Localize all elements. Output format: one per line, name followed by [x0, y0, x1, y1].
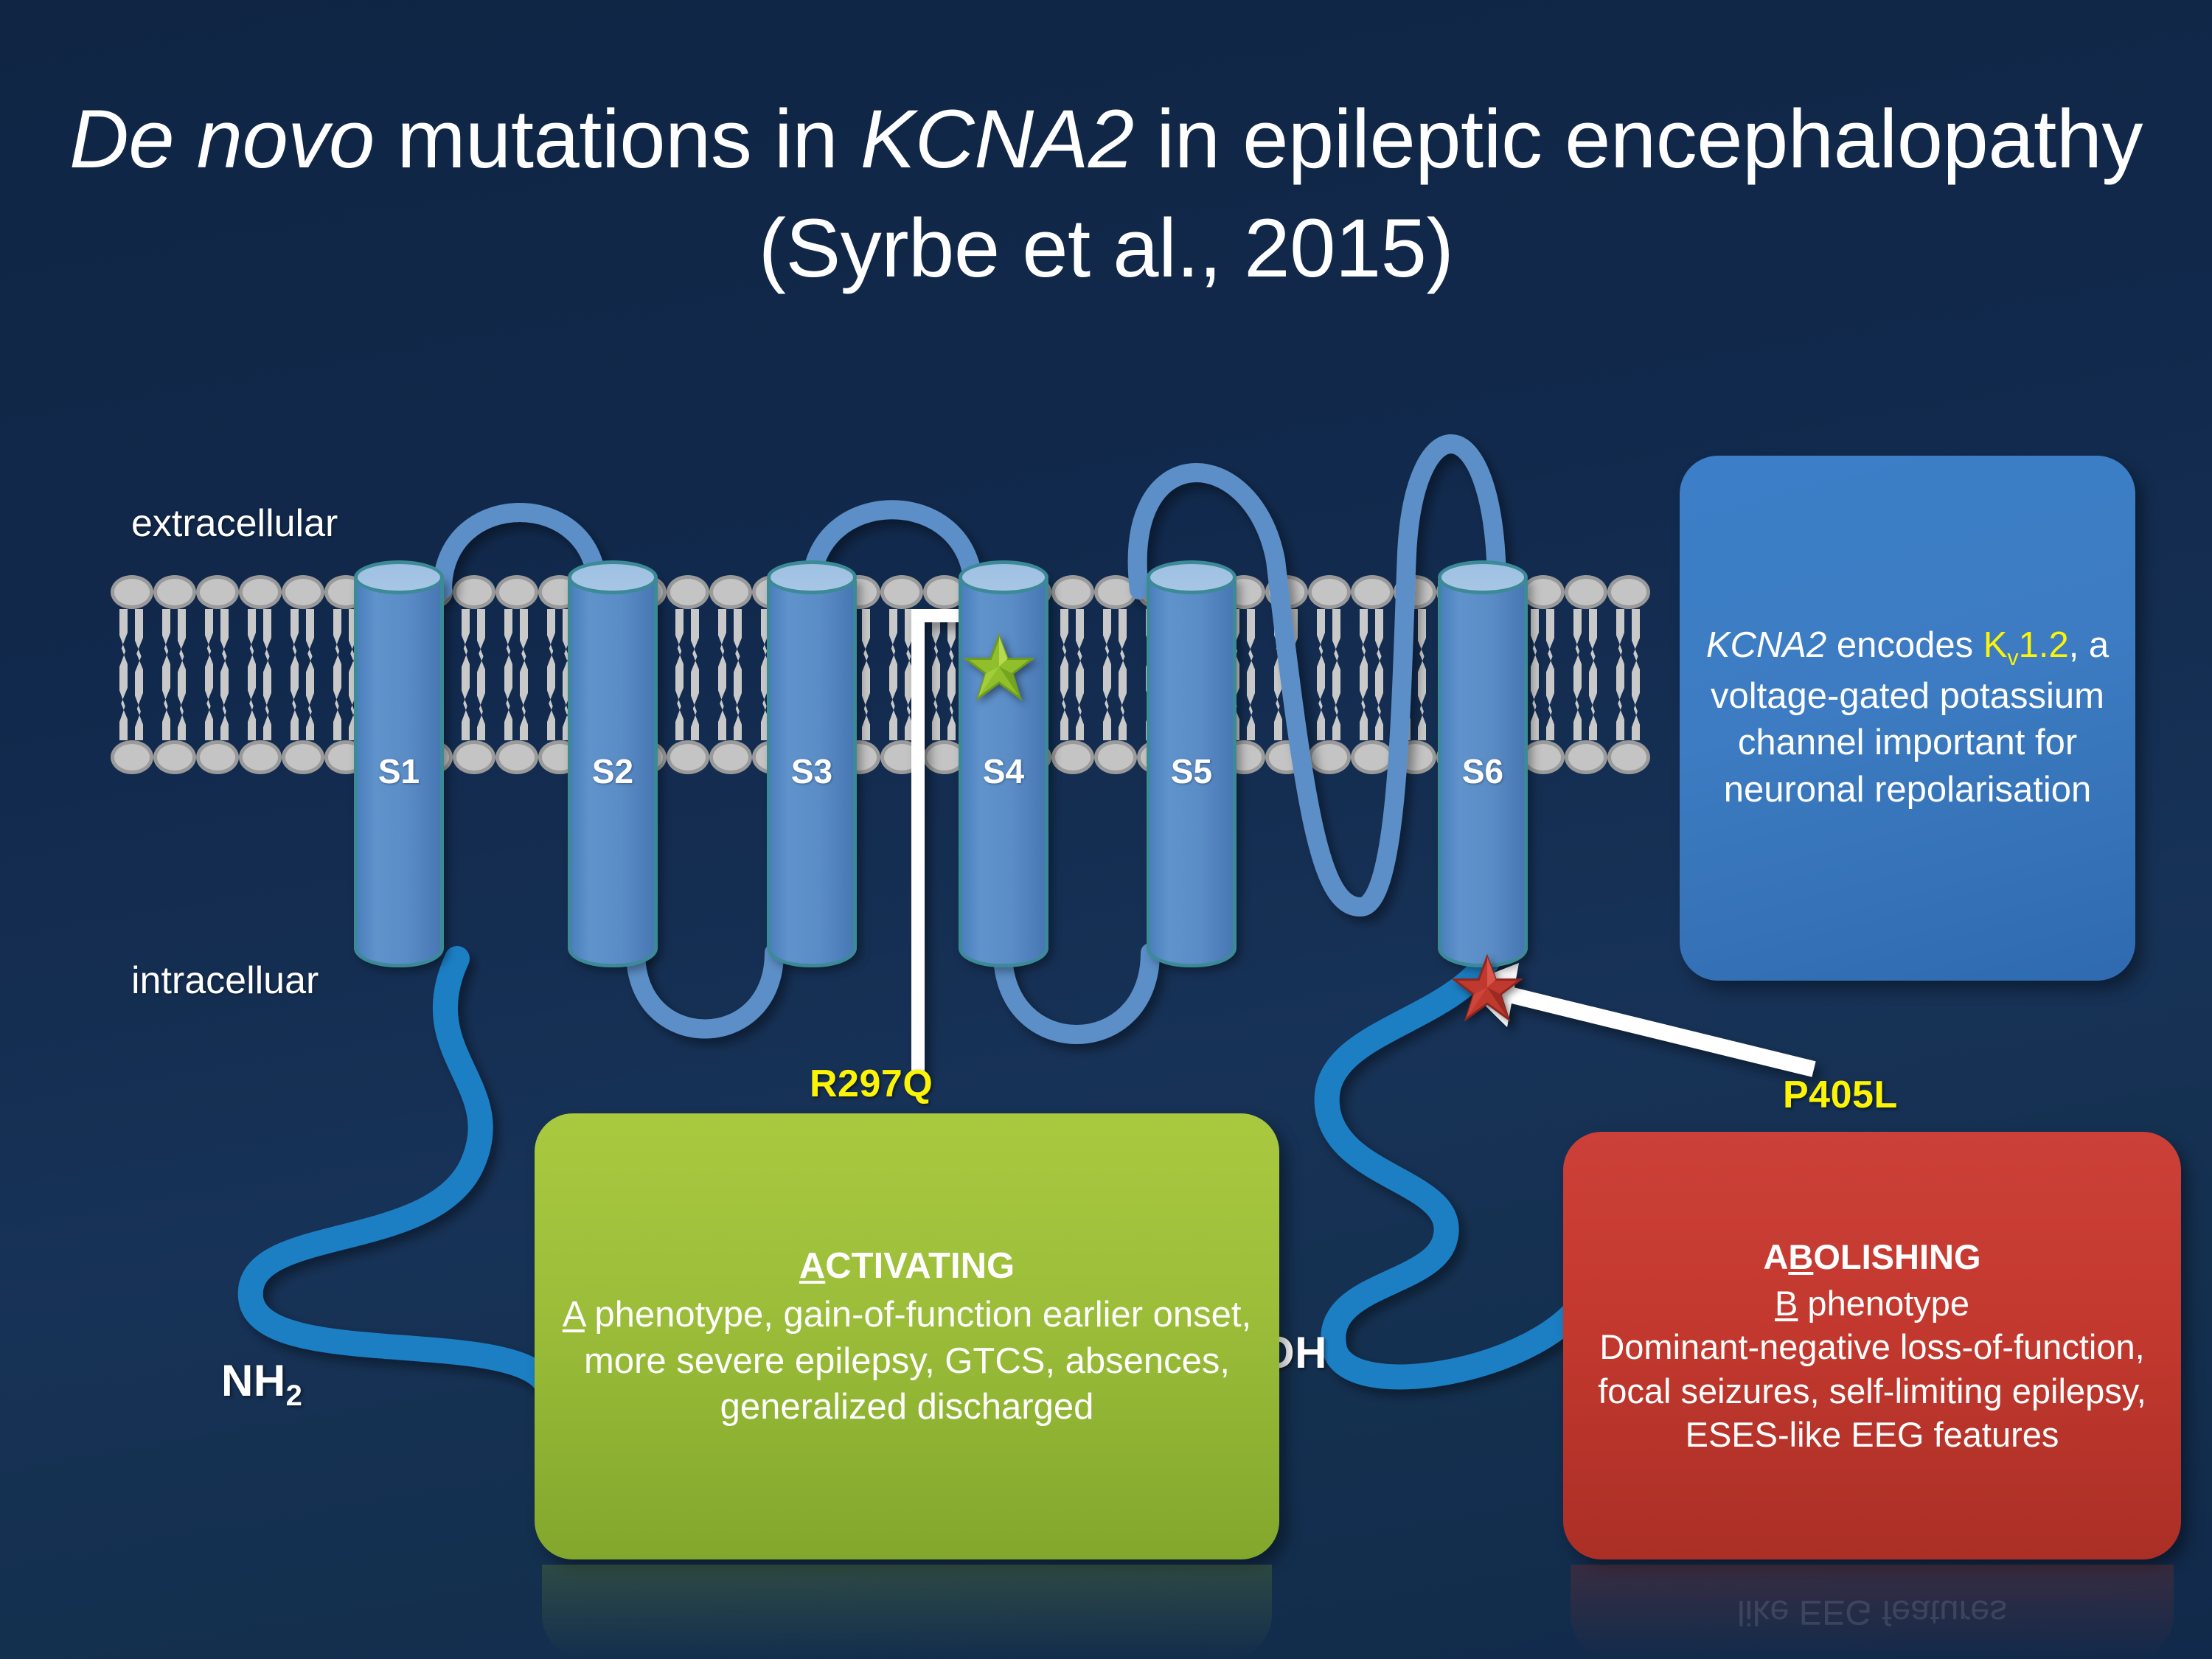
lipid-tails: [239, 609, 282, 740]
activating-phenotype-box: ACTIVATING A phenotype, gain-of-function…: [535, 1113, 1279, 1559]
title-gene: KCNA2: [860, 93, 1134, 185]
lipid-head-icon: [1094, 740, 1137, 774]
gene-name: KCNA2: [1706, 625, 1826, 665]
lipid-head-icon: [1394, 740, 1436, 774]
helix-label-s5: S5: [1147, 751, 1237, 791]
lipid-molecule: [1051, 575, 1094, 774]
lipid-molecule: [880, 575, 923, 774]
lipid-molecule: [495, 575, 538, 774]
green-box-reflection: [542, 1565, 1272, 1659]
abolishing-phenotype-box: ABOLISHING B phenotype Dominant-negative…: [1563, 1132, 2181, 1559]
lipid-tails: [1522, 609, 1565, 740]
lipid-tails: [880, 609, 923, 740]
lipid-head-icon: [880, 575, 923, 609]
lipid-head-icon: [709, 740, 752, 774]
helix-s4: S4: [959, 560, 1048, 967]
helix-label-s3: S3: [767, 751, 857, 791]
lipid-tails: [111, 609, 153, 740]
lipid-head-icon: [196, 575, 239, 609]
lipid-molecule: [1607, 575, 1650, 774]
lipid-head-icon: [667, 740, 709, 774]
lipid-molecule: [1265, 575, 1308, 774]
lipid-tails: [667, 609, 709, 740]
lipid-head-icon: [1308, 575, 1351, 609]
red-box-reflection-text: like EEG features: [1571, 1593, 2174, 1633]
slide-canvas: De novo mutations in KCNA2 in epileptic …: [0, 0, 2212, 1659]
lipid-molecule: [667, 575, 709, 774]
helix-s3: S3: [767, 560, 857, 967]
red-box-reflection: [1571, 1565, 2174, 1659]
n-terminal-tail: [251, 959, 546, 1382]
lipid-head-icon: [453, 740, 495, 774]
lipid-tails: [1607, 609, 1650, 740]
lipid-tails: [196, 609, 239, 740]
lipid-head-icon: [239, 740, 282, 774]
abolishing-body: Dominant-negative loss-of-function, foca…: [1579, 1325, 2165, 1456]
lipid-molecule: [153, 575, 196, 774]
mutation-label-p405l: P405L: [1783, 1073, 1898, 1117]
lipid-tails: [495, 609, 538, 740]
lipid-tails: [1308, 609, 1351, 740]
lipid-head-icon: [239, 575, 282, 609]
lipid-tails: [1051, 609, 1094, 740]
lipid-head-icon: [1265, 575, 1308, 609]
lipid-head-icon: [153, 575, 196, 609]
lipid-head-icon: [196, 740, 239, 774]
lipid-head-icon: [1522, 740, 1565, 774]
helix-top-cap: [1147, 560, 1237, 594]
lipid-molecule: [1308, 575, 1351, 774]
lipid-head-icon: [453, 575, 495, 609]
lipid-molecule: [1522, 575, 1565, 774]
lipid-molecule: [453, 575, 495, 774]
lipid-head-icon: [1394, 575, 1436, 609]
lipid-molecule: [1394, 575, 1436, 774]
helix-label-s6: S6: [1438, 751, 1528, 791]
lipid-molecule: [1565, 575, 1607, 774]
page-title: De novo mutations in KCNA2 in epileptic …: [0, 85, 2212, 303]
helix-s6: S6: [1438, 560, 1528, 967]
helix-s2: S2: [568, 560, 658, 967]
lipid-head-icon: [111, 575, 153, 609]
lipid-tails: [1094, 609, 1137, 740]
channel-name: Kv1.2: [1983, 625, 2069, 665]
lipid-tails: [1394, 609, 1436, 740]
helix-top-cap: [767, 560, 857, 594]
lipid-tails: [453, 609, 495, 740]
lipid-head-icon: [1094, 575, 1137, 609]
lipid-head-icon: [282, 740, 324, 774]
lipid-head-icon: [1565, 740, 1607, 774]
lipid-head-icon: [880, 740, 923, 774]
n-terminus-label: NH2: [221, 1355, 302, 1413]
lipid-head-icon: [1351, 740, 1394, 774]
lipid-tails: [709, 609, 752, 740]
lipid-head-icon: [1051, 740, 1094, 774]
lipid-head-icon: [1051, 575, 1094, 609]
lipid-head-icon: [495, 575, 538, 609]
lipid-tails: [1565, 609, 1607, 740]
n-terminus-subscript: 2: [286, 1380, 303, 1412]
lipid-molecule: [1094, 575, 1137, 774]
lipid-tails: [1265, 609, 1308, 740]
lipid-head-icon: [153, 740, 196, 774]
lipid-head-icon: [1565, 575, 1607, 609]
abolishing-phenotype-line: B phenotype: [1775, 1281, 1969, 1325]
lipid-head-icon: [1308, 740, 1351, 774]
helix-top-cap: [959, 560, 1048, 594]
lipid-head-icon: [1351, 575, 1394, 609]
mutation-label-r297q: R297Q: [810, 1062, 933, 1106]
lipid-molecule: [239, 575, 282, 774]
lipid-head-icon: [1265, 740, 1308, 774]
gene-info-text: KCNA2 encodes Kv1.2, a voltage-gated pot…: [1699, 622, 2116, 813]
lipid-head-icon: [282, 575, 324, 609]
helix-top-cap: [1438, 560, 1528, 594]
helix-top-cap: [568, 560, 658, 594]
n-terminus-text: NH: [221, 1356, 286, 1405]
lipid-molecule: [709, 575, 752, 774]
intracellular-label: intracelluar: [131, 959, 319, 1003]
helix-label-s4: S4: [959, 751, 1048, 791]
lipid-molecule: [196, 575, 239, 774]
lipid-molecule: [282, 575, 324, 774]
helix-s1: S1: [354, 560, 444, 967]
lipid-head-icon: [1607, 575, 1650, 609]
lipid-tails: [282, 609, 324, 740]
helix-s5: S5: [1147, 560, 1237, 967]
helix-top-cap: [354, 560, 444, 594]
lipid-head-icon: [667, 575, 709, 609]
lipid-molecule: [1351, 575, 1394, 774]
lipid-head-icon: [495, 740, 538, 774]
helix-label-s2: S2: [568, 751, 658, 791]
activating-heading: ACTIVATING: [799, 1243, 1015, 1289]
lipid-head-icon: [709, 575, 752, 609]
lipid-head-icon: [1607, 740, 1650, 774]
lipid-head-icon: [111, 740, 153, 774]
extracellular-label: extracellular: [131, 501, 338, 546]
gene-info-box: KCNA2 encodes Kv1.2, a voltage-gated pot…: [1680, 456, 2135, 981]
helix-label-s1: S1: [354, 751, 444, 791]
lipid-tails: [153, 609, 196, 740]
title-mid: mutations in: [375, 93, 860, 185]
abolishing-heading: ABOLISHING: [1763, 1235, 1980, 1279]
title-de-novo: De novo: [69, 93, 375, 185]
lipid-molecule: [111, 575, 153, 774]
lipid-tails: [1351, 609, 1394, 740]
gene-encodes-text: encodes: [1826, 625, 1983, 665]
activating-body: A phenotype, gain-of-function earlier on…: [560, 1292, 1254, 1430]
lipid-head-icon: [1522, 575, 1565, 609]
lipid-bilayer: [111, 575, 1659, 922]
